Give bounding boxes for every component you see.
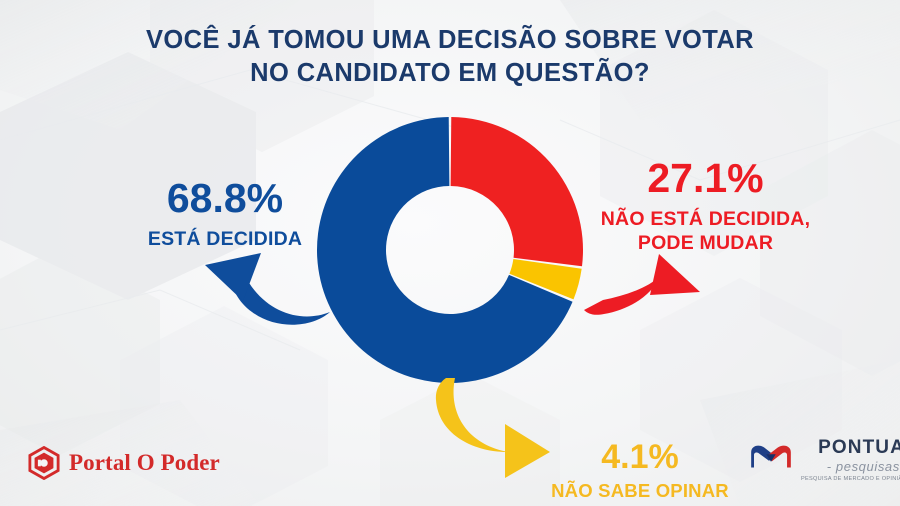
- pontual-tagline: PESQUISA DE MERCADO E OPINIÃO PÚBLICA: [801, 477, 900, 483]
- page-title: VOCÊ JÁ TOMOU UMA DECISÃO SOBRE VOTAR NO…: [0, 24, 900, 89]
- pontual-subtitle: - pesquisas -: [827, 460, 900, 473]
- left-caption: ESTÁ DECIDIDA: [110, 228, 340, 250]
- title-line-2: NO CANDIDATO EM QUESTÃO?: [0, 57, 900, 90]
- bottom-percent: 4.1%: [520, 440, 760, 474]
- callout-label-left: 68.8% ESTÁ DECIDIDA: [110, 178, 340, 250]
- pontual-pesquisas-logo: PONTUAL - pesquisas - PESQUISA DE MERCAD…: [748, 438, 900, 483]
- left-percent: 68.8%: [110, 178, 340, 219]
- donut-chart: [300, 100, 600, 400]
- portal-o-poder-logo: Portal O Poder: [28, 446, 220, 480]
- hexagon-logo-icon: [28, 446, 60, 480]
- pontual-name: PONTUAL: [818, 438, 900, 457]
- callout-label-bottom: 4.1% NÃO SABE OPINAR: [520, 440, 760, 501]
- infographic-canvas: VOCÊ JÁ TOMOU UMA DECISÃO SOBRE VOTAR NO…: [0, 0, 900, 506]
- right-percent: 27.1%: [578, 158, 833, 199]
- portal-wordmark: Portal O Poder: [69, 450, 220, 476]
- right-caption-line-2: PODE MUDAR: [578, 232, 833, 254]
- title-line-1: VOCÊ JÁ TOMOU UMA DECISÃO SOBRE VOTAR: [0, 24, 900, 57]
- donut-slice: [451, 117, 583, 266]
- pontual-logo-icon: [748, 441, 794, 475]
- bottom-caption: NÃO SABE OPINAR: [520, 480, 760, 501]
- right-caption-line-1: NÃO ESTÁ DECIDIDA,: [578, 208, 833, 230]
- callout-label-right: 27.1% NÃO ESTÁ DECIDIDA, PODE MUDAR: [578, 158, 833, 254]
